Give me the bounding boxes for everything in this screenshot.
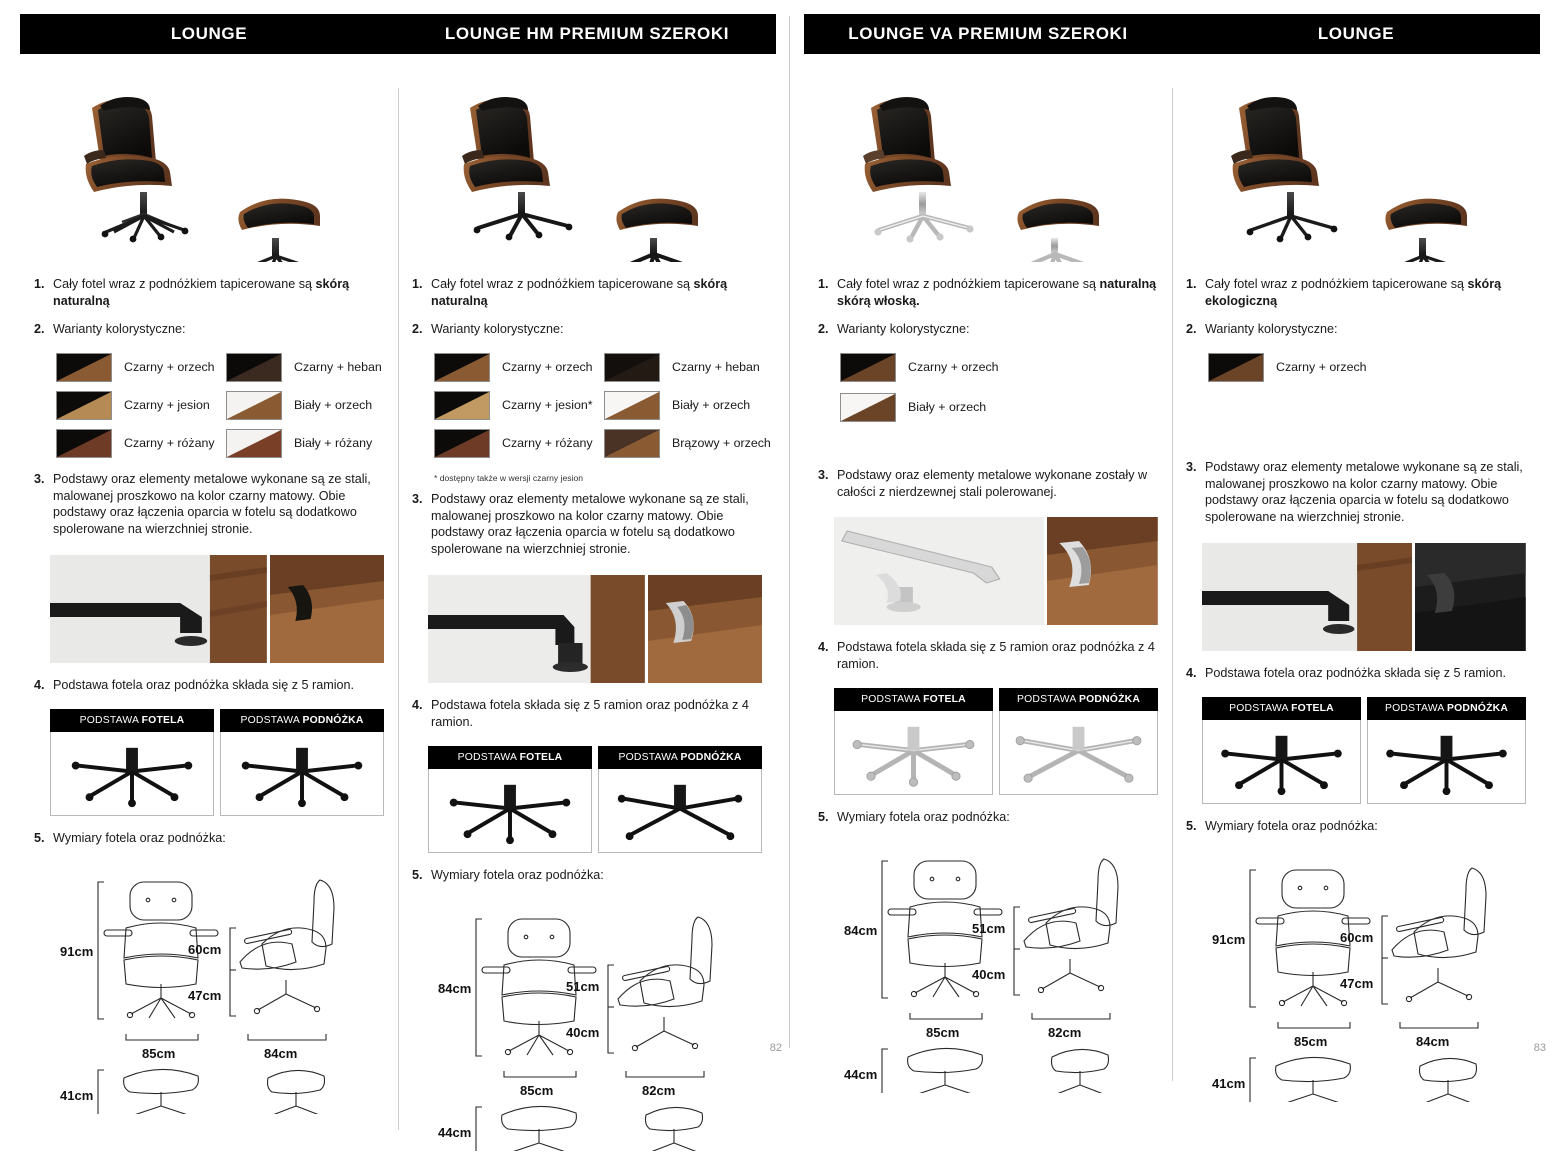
- color-variant-label: Czarny + heban: [672, 360, 760, 374]
- spec-item-5: 5. Wymiary fotela oraz podnóżka:: [34, 830, 384, 847]
- base-header-ottoman: PODSTAWA PODNÓŻKA: [1367, 697, 1526, 720]
- color-variant-row[interactable]: Czarny + heban: [226, 353, 396, 382]
- color-variant-row[interactable]: Czarny + jesion*: [434, 391, 604, 420]
- base-diagram-chair: [428, 769, 592, 853]
- detail-photo-joint: [270, 555, 384, 663]
- color-variant-row[interactable]: Czarny + różany: [434, 429, 604, 458]
- spec-text: Podstawy oraz elementy metalowe wykonane…: [53, 471, 384, 539]
- color-variant-row[interactable]: Biały + różany: [226, 429, 396, 458]
- spec-number: 2.: [1186, 321, 1205, 338]
- spec-text: Warianty kolorystyczne:: [1205, 321, 1526, 338]
- spec-text: Wymiary fotela oraz podnóżka:: [53, 830, 384, 847]
- color-variant-label: Czarny + orzech: [502, 360, 593, 374]
- detail-photo-base-arm: [50, 555, 267, 663]
- spec-item-1: 1. Cały fotel wraz z podnóżkiem tapicero…: [818, 276, 1158, 310]
- dim-chair-front-width: 85cm: [1294, 1034, 1327, 1049]
- detail-photo-base-arm: [1202, 543, 1412, 651]
- spec-number: 5.: [412, 867, 431, 884]
- spec-number: 2.: [412, 321, 431, 338]
- dim-chair-side-width: 82cm: [642, 1083, 675, 1098]
- spec-text: Podstawy oraz elementy metalowe wykonane…: [431, 491, 762, 559]
- color-swatch-icon: [56, 429, 112, 458]
- base-cell-chair: PODSTAWA FOTELA: [428, 746, 592, 853]
- spec-item-4: 4. Podstawa fotela składa się z 5 ramion…: [818, 639, 1158, 673]
- color-swatch-icon: [434, 391, 490, 420]
- dim-chair-side-height: 51cm: [566, 979, 599, 994]
- base-header-chair: PODSTAWA FOTELA: [50, 709, 214, 732]
- color-swatch-icon: [226, 391, 282, 420]
- color-variant-row[interactable]: Czarny + orzech: [56, 353, 226, 382]
- catalog-page-right: LOUNGE VA PREMIUM SZEROKI LOUNGE: [790, 0, 1560, 1064]
- dimension-svg-chair-3: 84cm 85cm: [826, 843, 1166, 1093]
- color-swatch-icon: [226, 429, 282, 458]
- spec-number: 3.: [1186, 459, 1205, 527]
- spec-text: Cały fotel wraz z podnóżkiem tapicerowan…: [431, 276, 762, 310]
- color-variant-label: Czarny + jesion: [124, 398, 210, 412]
- column-title-4: LOUNGE: [1172, 24, 1540, 44]
- spec-item-1: 1. Cały fotel wraz z podnóżkiem tapicero…: [34, 276, 384, 310]
- detail-photo-base-arm: [428, 575, 645, 683]
- color-swatch-icon: [840, 393, 896, 422]
- color-variant-row[interactable]: Brązowy + orzech: [604, 429, 774, 458]
- color-variant-label: Czarny + orzech: [124, 360, 215, 374]
- dim-chair-side-seat: 47cm: [188, 988, 221, 1003]
- spec-number: 3.: [818, 467, 837, 501]
- spec-number: 4.: [34, 677, 53, 694]
- color-variant-label: Biały + orzech: [672, 398, 750, 412]
- spec-number: 5.: [818, 809, 837, 826]
- dim-chair-front-height: 91cm: [1212, 932, 1245, 947]
- columns-right: 1. Cały fotel wraz z podnóżkiem tapicero…: [804, 54, 1540, 1107]
- spec-text: Podstawa fotela składa się z 5 ramion or…: [431, 697, 762, 731]
- base-header-ottoman: PODSTAWA PODNÓŻKA: [598, 746, 762, 769]
- dimension-svg-chair-1: 91cm 85cm: [42, 864, 382, 1114]
- spec-text: Warianty kolorystyczne:: [431, 321, 762, 338]
- spec-item-4: 4. Podstawa fotela oraz podnóżka składa …: [1186, 665, 1526, 682]
- detail-photo-strip-1: [50, 555, 384, 663]
- base-header-chair: PODSTAWA FOTELA: [428, 746, 592, 769]
- spec-item-1: 1. Cały fotel wraz z podnóżkiem tapicero…: [1186, 276, 1526, 310]
- spec-item-3: 3. Podstawy oraz elementy metalowe wykon…: [412, 491, 762, 559]
- spec-text: Wymiary fotela oraz podnóżka:: [1205, 818, 1526, 835]
- color-variant-row[interactable]: Czarny + heban: [604, 353, 774, 382]
- spec-text: Podstawy oraz elementy metalowe wykonane…: [837, 467, 1158, 501]
- detail-photo-strip-3: [834, 517, 1158, 625]
- product-photo-chair-ottoman-2: [412, 72, 762, 262]
- color-swatch-icon: [434, 353, 490, 382]
- detail-photo-strip-2: [428, 575, 762, 683]
- spec-item-2: 2. Warianty kolorystyczne:: [34, 321, 384, 338]
- dimension-drawings-1: 91cm 85cm: [42, 864, 384, 1119]
- spec-number: 2.: [818, 321, 837, 338]
- base-diagram-ottoman: [1367, 720, 1526, 804]
- product-column-lounge-hm-premium: 1. Cały fotel wraz z podnóżkiem tapicero…: [398, 54, 776, 1156]
- spec-text: Podstawy oraz elementy metalowe wykonane…: [1205, 459, 1526, 527]
- color-swatch-icon: [434, 429, 490, 458]
- dim-chair-side-width: 82cm: [1048, 1025, 1081, 1040]
- dim-ottoman-front-height: 44cm: [844, 1067, 877, 1082]
- base-header-ottoman: PODSTAWA PODNÓŻKA: [999, 688, 1158, 711]
- color-variant-label: Czarny + jesion*: [502, 398, 593, 412]
- spec-text: Cały fotel wraz z podnóżkiem tapicerowan…: [837, 276, 1158, 310]
- color-swatch-icon: [840, 353, 896, 382]
- column-title-1: LOUNGE: [20, 24, 398, 44]
- spec-text: Wymiary fotela oraz podnóżka:: [431, 867, 762, 884]
- product-photo-chair-ottoman-1: [34, 72, 384, 262]
- color-swatch-icon: [1208, 353, 1264, 382]
- dim-chair-front-width: 85cm: [926, 1025, 959, 1040]
- base-cell-ottoman: PODSTAWA PODNÓŻKA: [598, 746, 762, 853]
- color-swatch-icon: [56, 391, 112, 420]
- spec-item-4: 4. Podstawa fotela oraz podnóżka składa …: [34, 677, 384, 694]
- swatch-footnote: * dostępny także w wersji czarny jesion: [434, 473, 762, 483]
- spec-number: 4.: [1186, 665, 1205, 682]
- base-cell-chair: PODSTAWA FOTELA: [50, 709, 214, 816]
- page-header-bar-right: LOUNGE VA PREMIUM SZEROKI LOUNGE: [804, 14, 1540, 54]
- color-variant-label: Brązowy + orzech: [672, 436, 771, 450]
- spec-number: 4.: [818, 639, 837, 673]
- base-diagram-ottoman: [999, 711, 1158, 795]
- color-variant-grid-2: Czarny + orzech Czarny + heban Czarny + …: [434, 353, 774, 467]
- spec-item-4: 4. Podstawa fotela składa się z 5 ramion…: [412, 697, 762, 731]
- dim-chair-front-height: 91cm: [60, 944, 93, 959]
- product-photo-chair-ottoman-3: [818, 72, 1158, 262]
- base-table-4: PODSTAWA FOTELA PODSTAWA PODNÓŻKA: [1202, 697, 1526, 804]
- catalog-page-left: LOUNGE LOUNGE HM PREMIUM SZEROKI: [0, 0, 790, 1064]
- product-column-lounge-left: 1. Cały fotel wraz z podnóżkiem tapicero…: [20, 54, 398, 1156]
- dim-ottoman-front-height: 41cm: [60, 1088, 93, 1103]
- spec-item-3: 3. Podstawy oraz elementy metalowe wykon…: [1186, 459, 1526, 527]
- column-title-2: LOUNGE HM PREMIUM SZEROKI: [398, 24, 776, 44]
- dim-chair-front-width: 85cm: [520, 1083, 553, 1098]
- dim-chair-side-height: 51cm: [972, 921, 1005, 936]
- spec-text: Warianty kolorystyczne:: [53, 321, 384, 338]
- detail-photo-joint: [1047, 517, 1158, 625]
- color-variant-label: Czarny + orzech: [908, 360, 999, 374]
- spec-item-2: 2. Warianty kolorystyczne:: [818, 321, 1158, 338]
- spec-number: 2.: [34, 321, 53, 338]
- dim-chair-side-width: 84cm: [1416, 1034, 1449, 1049]
- spec-text: Podstawa fotela oraz podnóżka składa się…: [1205, 665, 1526, 682]
- base-diagram-chair: [50, 732, 214, 816]
- spec-item-2: 2. Warianty kolorystyczne:: [1186, 321, 1526, 338]
- spec-text: Cały fotel wraz z podnóżkiem tapicerowan…: [53, 276, 384, 310]
- color-swatch-icon: [604, 429, 660, 458]
- base-table-1: PODSTAWA FOTELA PODSTAWA PODNÓŻKA: [50, 709, 384, 816]
- color-variant-label: Czarny + różany: [502, 436, 593, 450]
- detail-photo-joint: [1415, 543, 1526, 651]
- product-column-lounge-right: 1. Cały fotel wraz z podnóżkiem tapicero…: [1172, 54, 1540, 1107]
- color-variant-grid-4: Czarny + orzech: [1208, 353, 1408, 393]
- dim-chair-side-seat: 47cm: [1340, 976, 1373, 991]
- color-variant-row[interactable]: Biały + orzech: [604, 391, 774, 420]
- base-header-ottoman: PODSTAWA PODNÓŻKA: [220, 709, 384, 732]
- base-cell-chair: PODSTAWA FOTELA: [1202, 697, 1361, 804]
- page-header-bar-left: LOUNGE LOUNGE HM PREMIUM SZEROKI: [20, 14, 776, 54]
- base-diagram-chair: [834, 711, 993, 795]
- color-variant-label: Czarny + różany: [124, 436, 215, 450]
- detail-photo-strip-4: [1202, 543, 1526, 651]
- color-swatch-icon: [604, 353, 660, 382]
- base-cell-chair: PODSTAWA FOTELA: [834, 688, 993, 795]
- spec-text: Warianty kolorystyczne:: [837, 321, 1158, 338]
- column-title-3: LOUNGE VA PREMIUM SZEROKI: [804, 24, 1172, 44]
- base-cell-ottoman: PODSTAWA PODNÓŻKA: [999, 688, 1158, 795]
- color-variant-label: Czarny + orzech: [1276, 360, 1367, 374]
- base-cell-ottoman: PODSTAWA PODNÓŻKA: [220, 709, 384, 816]
- page-number-left: 82: [770, 1042, 782, 1054]
- base-diagram-ottoman: [598, 769, 762, 853]
- color-variant-label: Biały + orzech: [908, 400, 986, 414]
- base-table-2: PODSTAWA FOTELA PODSTAWA PODNÓŻKA: [428, 746, 762, 853]
- spec-item-3: 3. Podstawy oraz elementy metalowe wykon…: [818, 467, 1158, 501]
- color-swatch-icon: [56, 353, 112, 382]
- base-header-chair: PODSTAWA FOTELA: [834, 688, 993, 711]
- product-column-lounge-va-premium: 1. Cały fotel wraz z podnóżkiem tapicero…: [804, 54, 1172, 1107]
- color-variant-row[interactable]: Czarny + orzech: [434, 353, 604, 382]
- color-variant-row[interactable]: Czarny + różany: [56, 429, 226, 458]
- detail-photo-base-arm: [834, 517, 1044, 625]
- base-cell-ottoman: PODSTAWA PODNÓŻKA: [1367, 697, 1526, 804]
- spec-number: 3.: [412, 491, 431, 559]
- dimension-drawings-4: 91cm 85cm: [1194, 852, 1526, 1107]
- color-variant-label: Biały + orzech: [294, 398, 372, 412]
- base-header-chair: PODSTAWA FOTELA: [1202, 697, 1361, 720]
- spec-text: Podstawa fotela oraz podnóżka składa się…: [53, 677, 384, 694]
- color-variant-label: Biały + różany: [294, 436, 372, 450]
- base-diagram-ottoman: [220, 732, 384, 816]
- color-variant-row[interactable]: Czarny + jesion: [56, 391, 226, 420]
- spec-text: Wymiary fotela oraz podnóżka:: [837, 809, 1158, 826]
- spec-item-5: 5. Wymiary fotela oraz podnóżka:: [412, 867, 762, 884]
- detail-photo-joint: [648, 575, 762, 683]
- color-variant-grid-3: Czarny + orzech Biały + orzech: [840, 353, 1040, 433]
- spec-number: 1.: [1186, 276, 1205, 310]
- dim-chair-side-height: 60cm: [188, 942, 221, 957]
- dim-chair-side-seat: 40cm: [566, 1025, 599, 1040]
- spec-number: 5.: [1186, 818, 1205, 835]
- color-swatch-icon: [604, 391, 660, 420]
- dimension-drawings-2: 84cm 85cm: [420, 901, 762, 1156]
- dim-chair-front-height: 84cm: [844, 923, 877, 938]
- base-diagram-chair: [1202, 720, 1361, 804]
- spec-number: 4.: [412, 697, 431, 731]
- spec-item-5: 5. Wymiary fotela oraz podnóżka:: [818, 809, 1158, 826]
- color-variant-row[interactable]: Biały + orzech: [840, 393, 1040, 422]
- spec-number: 1.: [818, 276, 837, 310]
- color-variant-grid-1: Czarny + orzech Czarny + heban Czarny + …: [56, 353, 396, 467]
- spec-text: Cały fotel wraz z podnóżkiem tapicerowan…: [1205, 276, 1526, 310]
- dimension-drawings-3: 84cm 85cm: [826, 843, 1158, 1098]
- color-variant-row[interactable]: Czarny + orzech: [840, 353, 1040, 382]
- dim-ottoman-front-height: 44cm: [438, 1125, 471, 1140]
- spec-item-1: 1. Cały fotel wraz z podnóżkiem tapicero…: [412, 276, 762, 310]
- dim-chair-side-seat: 40cm: [972, 967, 1005, 982]
- dim-ottoman-front-height: 41cm: [1212, 1076, 1245, 1091]
- color-variant-row[interactable]: Biały + orzech: [226, 391, 396, 420]
- color-variant-row[interactable]: Czarny + orzech: [1208, 353, 1408, 382]
- dim-chair-side-height: 60cm: [1340, 930, 1373, 945]
- spec-number: 1.: [412, 276, 431, 310]
- dim-chair-front-width: 85cm: [142, 1046, 175, 1061]
- product-photo-chair-ottoman-4: [1186, 72, 1526, 262]
- spec-item-2: 2. Warianty kolorystyczne:: [412, 321, 762, 338]
- page-number-right: 83: [1534, 1042, 1546, 1054]
- spec-item-5: 5. Wymiary fotela oraz podnóżka:: [1186, 818, 1526, 835]
- color-variant-label: Czarny + heban: [294, 360, 382, 374]
- dimension-svg-chair-4: 91cm 85cm: [1194, 852, 1534, 1102]
- dimension-svg-chair-2: 84cm 85cm: [420, 901, 760, 1151]
- base-table-3: PODSTAWA FOTELA PODSTAWA PODNÓŻKA: [834, 688, 1158, 795]
- spec-number: 1.: [34, 276, 53, 310]
- columns-left: 1. Cały fotel wraz z podnóżkiem tapicero…: [20, 54, 776, 1156]
- catalog-spread: LOUNGE LOUNGE HM PREMIUM SZEROKI: [0, 0, 1560, 1064]
- spec-number: 3.: [34, 471, 53, 539]
- dim-chair-side-width: 84cm: [264, 1046, 297, 1061]
- spec-number: 5.: [34, 830, 53, 847]
- spec-item-3: 3. Podstawy oraz elementy metalowe wykon…: [34, 471, 384, 539]
- color-swatch-icon: [226, 353, 282, 382]
- spec-text: Podstawa fotela składa się z 5 ramion or…: [837, 639, 1158, 673]
- dim-chair-front-height: 84cm: [438, 981, 471, 996]
